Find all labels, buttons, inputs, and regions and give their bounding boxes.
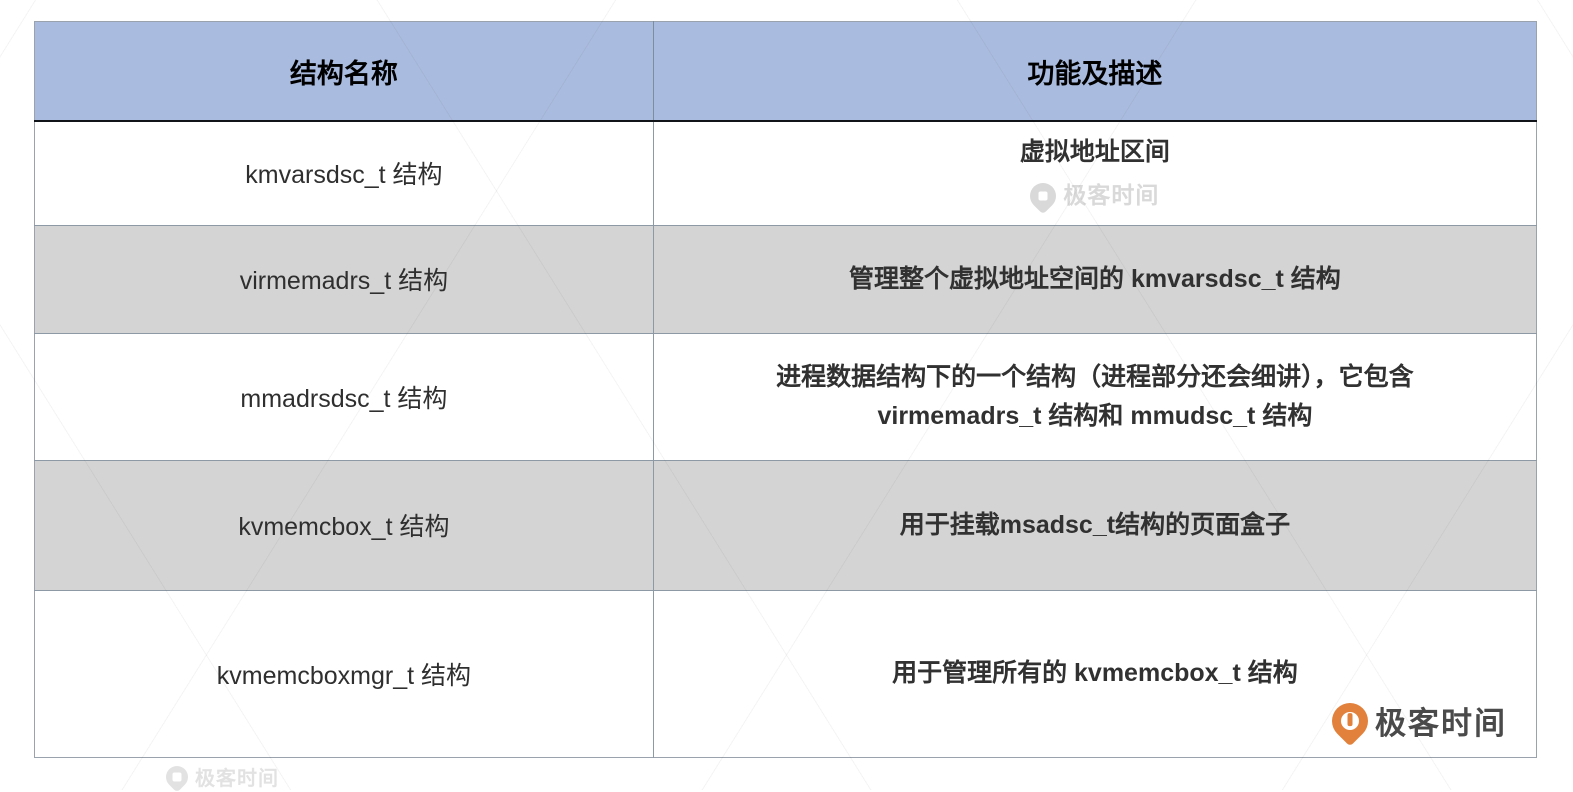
table-row: virmemadrs_t 结构 管理整个虚拟地址空间的 kmvarsdsc_t … <box>35 225 1537 333</box>
structure-table: 结构名称 功能及描述 kmvarsdsc_t 结构 虚拟地址区间 极客时间 vi… <box>34 21 1537 758</box>
cell-structure-name: kmvarsdsc_t 结构 <box>35 121 654 225</box>
description-line: 管理整个虚拟地址空间的 kmvarsdsc_t 结构 <box>672 260 1518 299</box>
table-row: kvmemcbox_t 结构 用于挂载msadsc_t结构的页面盒子 <box>35 460 1537 590</box>
column-header-structure-name: 结构名称 <box>35 22 654 122</box>
geektime-watermark-bottom-left: 极客时间 <box>166 762 279 791</box>
cell-description: 用于管理所有的 kvmemcbox_t 结构 <box>653 590 1536 757</box>
cell-description: 虚拟地址区间 极客时间 <box>653 121 1536 225</box>
column-header-function-description: 功能及描述 <box>653 22 1536 122</box>
cell-structure-name: kvmemcboxmgr_t 结构 <box>35 590 654 757</box>
description-line: 用于挂载msadsc_t结构的页面盒子 <box>672 506 1518 545</box>
header-row: 结构名称 功能及描述 <box>35 22 1537 122</box>
structure-table-container: 结构名称 功能及描述 kmvarsdsc_t 结构 虚拟地址区间 极客时间 vi… <box>34 21 1537 757</box>
description-line: 用于管理所有的 kvmemcbox_t 结构 <box>672 654 1518 693</box>
cell-description: 管理整个虚拟地址空间的 kmvarsdsc_t 结构 <box>653 225 1536 333</box>
cell-description: 用于挂载msadsc_t结构的页面盒子 <box>653 460 1536 590</box>
geektime-logo-icon <box>161 761 192 792</box>
cell-description: 进程数据结构下的一个结构（进程部分还会细讲），它包含 virmemadrs_t … <box>653 333 1536 460</box>
geektime-watermark-label: 极客时间 <box>1063 178 1159 214</box>
table-row: mmadrsdsc_t 结构 进程数据结构下的一个结构（进程部分还会细讲），它包… <box>35 333 1537 460</box>
cell-structure-name: mmadrsdsc_t 结构 <box>35 333 654 460</box>
description-line: virmemadrs_t 结构和 mmudsc_t 结构 <box>672 397 1518 436</box>
table-body: kmvarsdsc_t 结构 虚拟地址区间 极客时间 virmemadrs_t … <box>35 121 1537 757</box>
table-row: kmvarsdsc_t 结构 虚拟地址区间 极客时间 <box>35 121 1537 225</box>
geektime-watermark: 极客时间 <box>672 178 1518 214</box>
geektime-logo-icon <box>1025 177 1062 214</box>
geektime-watermark-label: 极客时间 <box>195 762 279 791</box>
description-line: 进程数据结构下的一个结构（进程部分还会细讲），它包含 <box>672 358 1518 397</box>
cell-structure-name: kvmemcbox_t 结构 <box>35 460 654 590</box>
description-line: 虚拟地址区间 <box>672 133 1518 172</box>
table-row: kvmemcboxmgr_t 结构 用于管理所有的 kvmemcbox_t 结构 <box>35 590 1537 757</box>
table-header: 结构名称 功能及描述 <box>35 22 1537 122</box>
cell-structure-name: virmemadrs_t 结构 <box>35 225 654 333</box>
